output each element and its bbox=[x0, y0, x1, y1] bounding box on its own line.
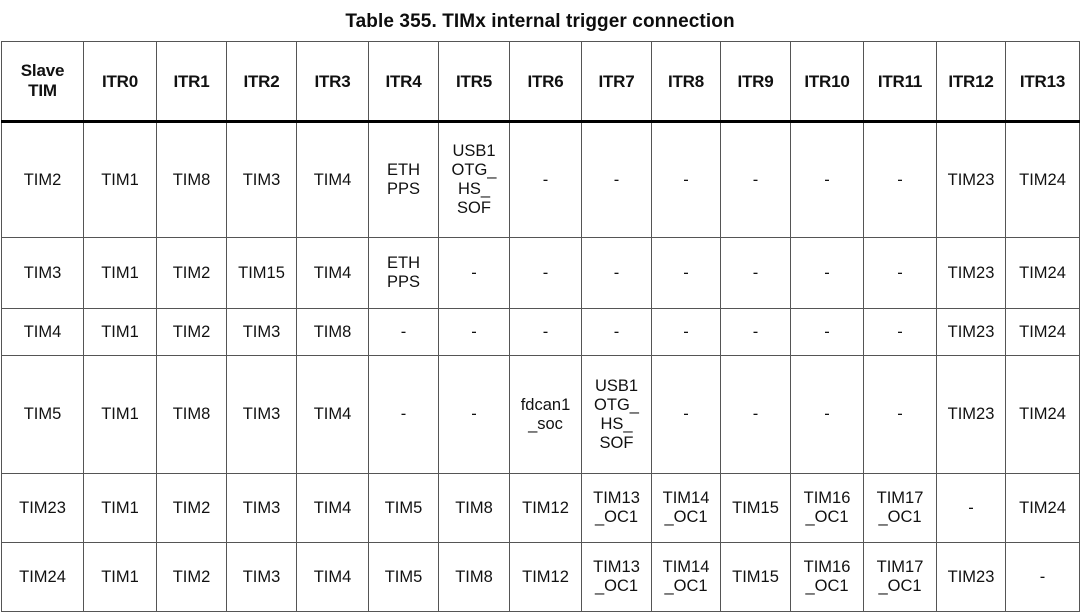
trigger-cell: TIM8 bbox=[297, 309, 369, 356]
trigger-cell: TIM3 bbox=[227, 474, 297, 543]
column-header-itr10: ITR10 bbox=[791, 42, 864, 122]
trigger-cell: TIM17 _OC1 bbox=[864, 474, 937, 543]
trigger-cell: TIM8 bbox=[157, 356, 227, 474]
trigger-cell: TIM8 bbox=[157, 122, 227, 238]
trigger-cell: - bbox=[864, 356, 937, 474]
trigger-cell: - bbox=[582, 238, 652, 309]
trigger-cell: TIM4 bbox=[297, 122, 369, 238]
trigger-cell: - bbox=[582, 309, 652, 356]
trigger-cell: - bbox=[721, 356, 791, 474]
trigger-cell: TIM1 bbox=[84, 543, 157, 612]
column-header-itr3: ITR3 bbox=[297, 42, 369, 122]
slave-tim-cell: TIM24 bbox=[2, 543, 84, 612]
trigger-cell: - bbox=[582, 122, 652, 238]
trigger-cell: TIM13 _OC1 bbox=[582, 474, 652, 543]
trigger-cell: TIM15 bbox=[721, 543, 791, 612]
table-caption: Table 355. TIMx internal trigger connect… bbox=[0, 10, 1080, 34]
trigger-cell: - bbox=[721, 122, 791, 238]
trigger-cell: TIM4 bbox=[297, 238, 369, 309]
trigger-cell: TIM15 bbox=[721, 474, 791, 543]
trigger-cell: TIM1 bbox=[84, 474, 157, 543]
trigger-cell: TIM14 _OC1 bbox=[652, 543, 721, 612]
slave-tim-cell: TIM23 bbox=[2, 474, 84, 543]
trigger-cell: - bbox=[1006, 543, 1080, 612]
trigger-cell: TIM16 _OC1 bbox=[791, 474, 864, 543]
trigger-cell: USB1 OTG_ HS_ SOF bbox=[582, 356, 652, 474]
trigger-cell: - bbox=[864, 122, 937, 238]
trigger-cell: TIM2 bbox=[157, 474, 227, 543]
trigger-cell: TIM8 bbox=[439, 474, 510, 543]
trigger-cell: TIM5 bbox=[369, 543, 439, 612]
trigger-cell: - bbox=[791, 122, 864, 238]
trigger-cell: - bbox=[510, 309, 582, 356]
trigger-cell: TIM1 bbox=[84, 309, 157, 356]
trigger-cell: TIM4 bbox=[297, 474, 369, 543]
trigger-cell: - bbox=[864, 238, 937, 309]
trigger-cell: - bbox=[510, 238, 582, 309]
trigger-cell: TIM14 _OC1 bbox=[652, 474, 721, 543]
column-header-itr6: ITR6 bbox=[510, 42, 582, 122]
trigger-cell: TIM24 bbox=[1006, 309, 1080, 356]
document-page: Table 355. TIMx internal trigger connect… bbox=[0, 0, 1080, 593]
trigger-cell: TIM24 bbox=[1006, 122, 1080, 238]
trigger-cell: TIM8 bbox=[439, 543, 510, 612]
trigger-cell: TIM12 bbox=[510, 474, 582, 543]
trigger-cell: TIM23 bbox=[937, 238, 1006, 309]
trigger-cell: TIM23 bbox=[937, 543, 1006, 612]
table-row: TIM4TIM1TIM2TIM3TIM8--------TIM23TIM24 bbox=[2, 309, 1080, 356]
trigger-cell: - bbox=[510, 122, 582, 238]
trigger-cell: TIM3 bbox=[227, 543, 297, 612]
slave-tim-cell: TIM2 bbox=[2, 122, 84, 238]
column-header-itr8: ITR8 bbox=[652, 42, 721, 122]
trigger-cell: TIM2 bbox=[157, 309, 227, 356]
trigger-cell: TIM3 bbox=[227, 356, 297, 474]
table-header-row: Slave TIM ITR0 ITR1 ITR2 ITR3 ITR4 ITR5 … bbox=[2, 42, 1080, 122]
column-header-itr13: ITR13 bbox=[1006, 42, 1080, 122]
column-header-itr11: ITR11 bbox=[864, 42, 937, 122]
trigger-cell: - bbox=[369, 356, 439, 474]
table-row: TIM23TIM1TIM2TIM3TIM4TIM5TIM8TIM12TIM13 … bbox=[2, 474, 1080, 543]
column-header-slave-tim: Slave TIM bbox=[2, 42, 84, 122]
trigger-cell: TIM23 bbox=[937, 309, 1006, 356]
trigger-cell: TIM23 bbox=[937, 356, 1006, 474]
column-header-itr12: ITR12 bbox=[937, 42, 1006, 122]
trigger-cell: - bbox=[652, 356, 721, 474]
trigger-cell: TIM17 _OC1 bbox=[864, 543, 937, 612]
trigger-cell: TIM24 bbox=[1006, 238, 1080, 309]
table-body: TIM2TIM1TIM8TIM3TIM4ETH PPSUSB1 OTG_ HS_… bbox=[2, 122, 1080, 612]
trigger-cell: TIM24 bbox=[1006, 474, 1080, 543]
trigger-cell: - bbox=[864, 309, 937, 356]
slave-tim-cell: TIM5 bbox=[2, 356, 84, 474]
trigger-cell: TIM12 bbox=[510, 543, 582, 612]
trigger-cell: - bbox=[652, 238, 721, 309]
timx-trigger-table: Slave TIM ITR0 ITR1 ITR2 ITR3 ITR4 ITR5 … bbox=[1, 41, 1080, 612]
column-header-itr7: ITR7 bbox=[582, 42, 652, 122]
trigger-cell: TIM1 bbox=[84, 356, 157, 474]
trigger-cell: TIM4 bbox=[297, 356, 369, 474]
trigger-cell: - bbox=[369, 309, 439, 356]
trigger-cell: fdcan1 _soc bbox=[510, 356, 582, 474]
trigger-cell: - bbox=[439, 238, 510, 309]
trigger-cell: TIM1 bbox=[84, 238, 157, 309]
trigger-cell: - bbox=[937, 474, 1006, 543]
trigger-cell: - bbox=[439, 356, 510, 474]
trigger-cell: ETH PPS bbox=[369, 122, 439, 238]
trigger-cell: TIM2 bbox=[157, 543, 227, 612]
trigger-cell: - bbox=[791, 238, 864, 309]
column-header-itr1: ITR1 bbox=[157, 42, 227, 122]
trigger-cell: TIM3 bbox=[227, 122, 297, 238]
column-header-itr4: ITR4 bbox=[369, 42, 439, 122]
table-container: Slave TIM ITR0 ITR1 ITR2 ITR3 ITR4 ITR5 … bbox=[1, 41, 1079, 612]
trigger-cell: - bbox=[652, 309, 721, 356]
trigger-cell: TIM3 bbox=[227, 309, 297, 356]
column-header-itr0: ITR0 bbox=[84, 42, 157, 122]
trigger-cell: TIM4 bbox=[297, 543, 369, 612]
slave-tim-cell: TIM3 bbox=[2, 238, 84, 309]
trigger-cell: TIM5 bbox=[369, 474, 439, 543]
trigger-cell: TIM13 _OC1 bbox=[582, 543, 652, 612]
column-header-itr5: ITR5 bbox=[439, 42, 510, 122]
table-row: TIM24TIM1TIM2TIM3TIM4TIM5TIM8TIM12TIM13 … bbox=[2, 543, 1080, 612]
trigger-cell: TIM24 bbox=[1006, 356, 1080, 474]
slave-tim-cell: TIM4 bbox=[2, 309, 84, 356]
trigger-cell: TIM16 _OC1 bbox=[791, 543, 864, 612]
trigger-cell: TIM23 bbox=[937, 122, 1006, 238]
trigger-cell: TIM15 bbox=[227, 238, 297, 309]
trigger-cell: ETH PPS bbox=[369, 238, 439, 309]
column-header-itr2: ITR2 bbox=[227, 42, 297, 122]
header-row: Slave TIM ITR0 ITR1 ITR2 ITR3 ITR4 ITR5 … bbox=[2, 42, 1080, 122]
trigger-cell: - bbox=[439, 309, 510, 356]
trigger-cell: TIM2 bbox=[157, 238, 227, 309]
column-header-itr9: ITR9 bbox=[721, 42, 791, 122]
trigger-cell: - bbox=[721, 238, 791, 309]
trigger-cell: USB1 OTG_ HS_ SOF bbox=[439, 122, 510, 238]
table-row: TIM5TIM1TIM8TIM3TIM4--fdcan1 _socUSB1 OT… bbox=[2, 356, 1080, 474]
table-row: TIM3TIM1TIM2TIM15TIM4ETH PPS-------TIM23… bbox=[2, 238, 1080, 309]
trigger-cell: - bbox=[791, 309, 864, 356]
trigger-cell: - bbox=[652, 122, 721, 238]
table-row: TIM2TIM1TIM8TIM3TIM4ETH PPSUSB1 OTG_ HS_… bbox=[2, 122, 1080, 238]
trigger-cell: - bbox=[791, 356, 864, 474]
trigger-cell: TIM1 bbox=[84, 122, 157, 238]
trigger-cell: - bbox=[721, 309, 791, 356]
